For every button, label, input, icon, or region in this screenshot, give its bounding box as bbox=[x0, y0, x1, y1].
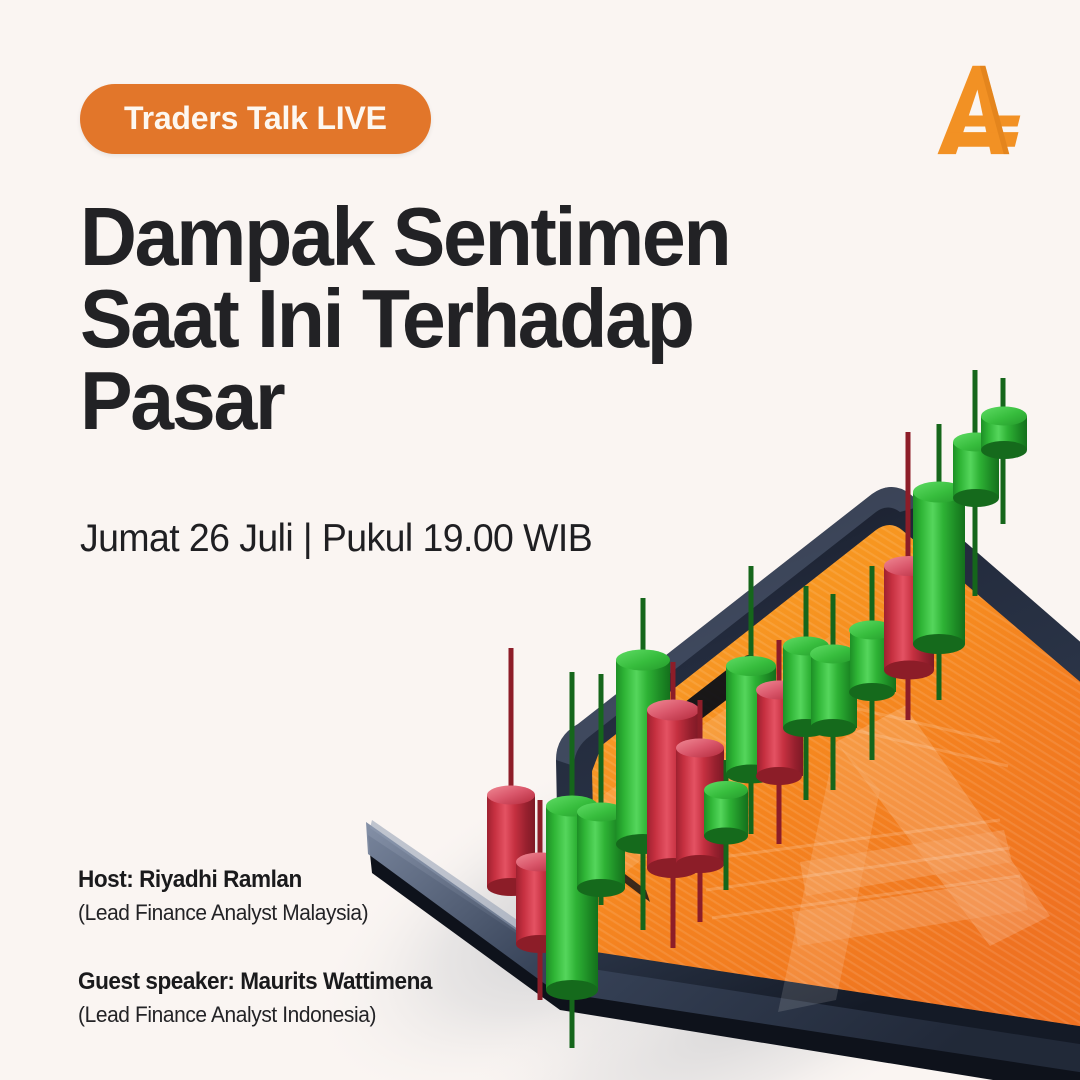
poster-canvas: Traders Talk LIVE Dampak Sentimen Saat I… bbox=[0, 0, 1080, 1080]
guest-speaker-name: Guest speaker: Maurits Wattimena bbox=[78, 968, 432, 996]
poster-content: Traders Talk LIVE Dampak Sentimen Saat I… bbox=[0, 0, 1080, 1080]
credits-block: Host: Riyadhi Ramlan (Lead Finance Analy… bbox=[78, 866, 455, 1028]
schedule-text: Jumat 26 Juli | Pukul 19.00 WIB bbox=[80, 517, 592, 561]
guest-speaker-role: (Lead Finance Analyst Indonesia) bbox=[78, 1002, 436, 1028]
host-role: (Lead Finance Analyst Malaysia) bbox=[78, 900, 436, 926]
aaa-logo-icon bbox=[932, 62, 1024, 158]
page-title: Dampak Sentimen Saat Ini Terhadap Pasar bbox=[80, 196, 774, 442]
host-name: Host: Riyadhi Ramlan bbox=[78, 866, 432, 894]
live-badge: Traders Talk LIVE bbox=[80, 84, 431, 154]
